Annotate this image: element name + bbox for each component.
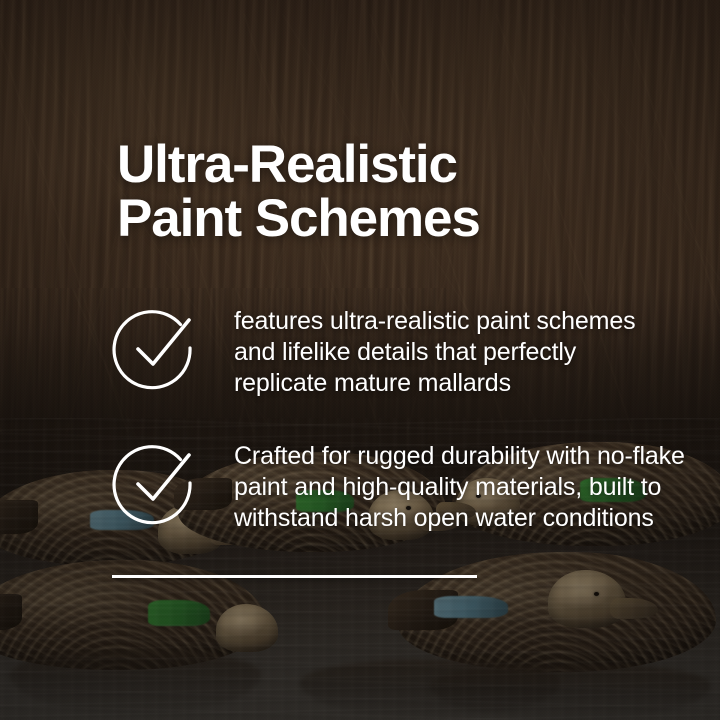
list-item-label: features ultra-realistic paint schemes a… (234, 306, 697, 399)
page-title: Ultra-Realistic Paint Schemes (117, 138, 657, 246)
check-circle-icon (117, 439, 201, 523)
check-circle-icon (117, 304, 201, 388)
feature-list: features ultra-realistic paint schemes a… (117, 300, 697, 534)
content-overlay: Ultra-Realistic Paint Schemes features u… (0, 0, 720, 720)
promo-card: Ultra-Realistic Paint Schemes features u… (0, 0, 720, 720)
horizontal-divider (112, 575, 477, 578)
list-item: features ultra-realistic paint schemes a… (117, 300, 697, 399)
list-item: Crafted for rugged durability with no-fl… (117, 435, 697, 534)
list-item-label: Crafted for rugged durability with no-fl… (234, 441, 697, 534)
